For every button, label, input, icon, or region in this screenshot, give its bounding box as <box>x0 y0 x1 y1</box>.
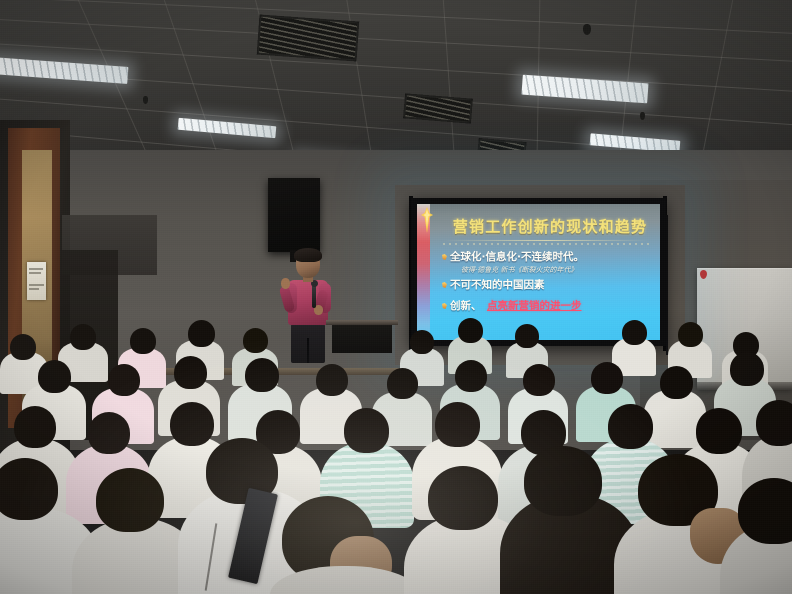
audience-member-head <box>70 324 96 350</box>
ceiling-air-vent <box>403 93 473 123</box>
ceiling-light-panel <box>178 118 277 138</box>
audience-member-head <box>170 402 214 446</box>
audience-member-head <box>387 368 418 399</box>
slide-title-rule <box>443 240 649 241</box>
slide-bullet-1: 全球化·信息化·不连续时代。 <box>450 251 584 264</box>
ceiling-light-panel <box>0 57 128 84</box>
wall-speaker-icon <box>268 178 320 252</box>
audience-member-head <box>188 320 215 347</box>
audience-member-head <box>515 324 539 348</box>
audience-member-head <box>245 358 279 392</box>
audience-member-head <box>344 408 389 453</box>
audience-member-head <box>524 446 602 516</box>
audience-member-head <box>108 364 140 396</box>
audience-member-head <box>523 364 555 396</box>
audience-member-head <box>730 352 764 386</box>
audience-member-head <box>622 320 647 345</box>
audience-member-head <box>660 366 693 399</box>
audience-member-head <box>10 334 36 360</box>
audience-member-head <box>435 402 480 447</box>
door-notice-sign <box>27 262 46 300</box>
ceiling-sprinkler <box>640 112 645 120</box>
audience-member-head <box>458 318 483 343</box>
slide-flame-icon <box>420 207 434 233</box>
audience-member-head <box>38 360 71 393</box>
bullet-marker-icon <box>442 254 447 260</box>
audience-member-head <box>756 400 792 446</box>
audience-member-head <box>130 328 156 354</box>
slide-bullet-3-prefix: 创新、 <box>450 300 482 313</box>
bullet-marker-icon <box>442 282 447 288</box>
presenter-hand-left <box>281 278 290 289</box>
slide-title-dotline <box>443 243 649 245</box>
audience-member-head <box>14 406 56 448</box>
audience-member-head <box>243 328 268 353</box>
audience-member-head <box>316 364 348 396</box>
audience-member-head <box>455 360 487 392</box>
audience-member-head <box>174 356 207 389</box>
audience-member-head <box>696 408 742 454</box>
bullet-marker-icon <box>442 303 447 309</box>
slide-title: 营销工作创新的现状和趋势 <box>448 216 652 238</box>
microphone-icon <box>312 284 316 308</box>
audience <box>0 318 792 594</box>
slide-subtext: 彼得·德鲁克 新书《断裂火灾的年代》 <box>461 266 577 275</box>
ceiling-light-panel <box>521 75 648 104</box>
audience-member-head <box>591 362 623 394</box>
audience-member-head <box>678 322 703 347</box>
eyeglasses-icon <box>298 260 318 265</box>
photograph-scene: 营销工作创新的现状和趋势 全球化·信息化·不连续时代。 彼得·德鲁克 新书《断裂… <box>0 0 792 594</box>
audience-member-head <box>608 404 653 449</box>
audience-member-head <box>410 330 434 354</box>
slide-bullet-2: 不可不知的中国因素 <box>450 279 545 292</box>
slide-bullet-3-link[interactable]: 点亮新营销的进一步 <box>487 300 582 313</box>
ceiling-air-vent <box>257 15 360 62</box>
audience-member-head <box>96 468 164 532</box>
ceiling-sprinkler <box>583 24 591 35</box>
audience-member-head <box>88 412 130 454</box>
audience-member-head <box>428 466 498 530</box>
audience-member-head <box>0 458 58 520</box>
ceiling-sprinkler <box>143 96 148 104</box>
